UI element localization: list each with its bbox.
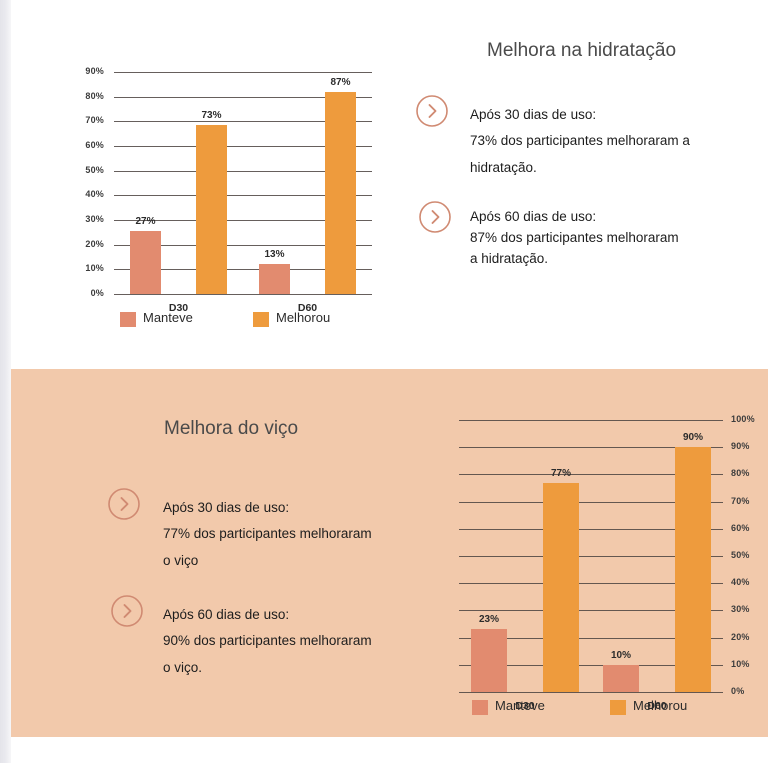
y-axis-tick-label: 10% <box>78 263 104 273</box>
bar-value-label: 77% <box>537 468 585 479</box>
y-axis-tick-label: 0% <box>731 686 744 696</box>
y-axis-tick-label: 100% <box>731 414 755 424</box>
legend-label-melhorou: Melhorou <box>276 310 330 325</box>
bar-value-label: 13% <box>253 249 296 260</box>
bar-value-label: 87% <box>319 77 362 88</box>
y-axis-tick-label: 40% <box>731 577 750 587</box>
y-axis-tick-label: 50% <box>78 165 104 175</box>
y-axis-tick-label: 50% <box>731 550 750 560</box>
bullet-hidratacao-60: Após 60 dias de uso: 87% dos participant… <box>470 207 755 270</box>
legend-swatch-melhorou <box>610 700 626 715</box>
bullet-vico-60: Após 60 dias de uso: 90% dos participant… <box>163 602 453 681</box>
y-axis-tick-label: 30% <box>78 214 104 224</box>
y-axis-tick-label: 60% <box>78 140 104 150</box>
legend-label-melhorou: Melhorou <box>633 698 687 713</box>
gridline <box>114 72 372 73</box>
y-axis-tick-label: 80% <box>731 468 750 478</box>
legend-label-manteve: Manteve <box>495 698 545 713</box>
bullet-vico-30: Após 30 dias de uso: 77% dos participant… <box>163 495 453 574</box>
left-edge-strip <box>0 0 11 763</box>
y-axis-tick-label: 30% <box>731 604 750 614</box>
bullet-hidratacao-30: Após 30 dias de uso: 73% dos participant… <box>470 102 750 181</box>
gridline <box>459 420 723 421</box>
legend-swatch-melhorou <box>253 312 269 327</box>
y-axis-tick-label: 70% <box>78 115 104 125</box>
bar-d30-melhorou <box>196 125 227 294</box>
bullet-heading: Após 30 dias de uso: <box>163 495 453 521</box>
bar-d60-melhorou <box>325 92 356 294</box>
y-axis-tick-label: 20% <box>731 632 750 642</box>
y-axis-tick-label: 0% <box>78 288 104 298</box>
bar-d60-manteve <box>603 665 639 692</box>
bullet-line-2: o viço <box>163 548 453 574</box>
y-axis-tick-label: 40% <box>78 189 104 199</box>
bar-value-label: 73% <box>190 110 233 121</box>
bar-value-label: 27% <box>124 216 167 227</box>
legend-swatch-manteve <box>472 700 488 715</box>
chart-vico: 0%10%20%30%40%50%60%70%80%90%100%23%77%D… <box>455 412 768 737</box>
y-axis-tick-label: 90% <box>731 441 750 451</box>
chevron-right-circle-icon <box>107 487 141 521</box>
bullet-line-1: 90% dos participantes melhoraram <box>163 628 453 654</box>
chevron-right-circle-icon <box>415 94 449 128</box>
bar-value-label: 10% <box>597 650 645 661</box>
page-footer-band <box>0 737 768 763</box>
gridline <box>459 692 723 693</box>
chart-hidratacao: 0%10%20%30%40%50%60%70%80%90%27%73%D3013… <box>78 64 378 334</box>
bar-d60-melhorou <box>675 447 711 692</box>
chevron-right-circle-icon <box>110 594 144 628</box>
y-axis-tick-label: 20% <box>78 239 104 249</box>
bullet-heading: Após 60 dias de uso: <box>470 207 755 228</box>
bar-value-label: 90% <box>669 432 717 443</box>
bar-d60-manteve <box>259 264 290 294</box>
y-axis-tick-label: 90% <box>78 66 104 76</box>
infographic-page: 0%10%20%30%40%50%60%70%80%90%27%73%D3013… <box>0 0 768 763</box>
bar-d30-manteve <box>130 231 161 294</box>
bullet-line-1: 87% dos participantes melhoraram <box>470 228 755 249</box>
bullet-line-1: 73% dos participantes melhoraram a <box>470 128 750 154</box>
bullet-heading: Após 60 dias de uso: <box>163 602 453 628</box>
y-axis-tick-label: 60% <box>731 523 750 533</box>
y-axis-tick-label: 80% <box>78 91 104 101</box>
chevron-right-circle-icon <box>418 200 452 234</box>
section-title-hidratacao: Melhora na hidratação <box>487 40 676 62</box>
section-title-vico: Melhora do viço <box>164 418 298 440</box>
bullet-heading: Após 30 dias de uso: <box>470 102 750 128</box>
bullet-line-2: o viço. <box>163 655 453 681</box>
legend-swatch-manteve <box>120 312 136 327</box>
legend-label-manteve: Manteve <box>143 310 193 325</box>
bar-value-label: 23% <box>465 614 513 625</box>
bullet-line-2: hidratação. <box>470 155 750 181</box>
bullet-line-1: 77% dos participantes melhoraram <box>163 521 453 547</box>
y-axis-tick-label: 10% <box>731 659 750 669</box>
gridline <box>114 294 372 295</box>
bar-d30-melhorou <box>543 483 579 692</box>
bullet-line-2: a hidratação. <box>470 249 755 270</box>
y-axis-tick-label: 70% <box>731 496 750 506</box>
bar-d30-manteve <box>471 629 507 692</box>
